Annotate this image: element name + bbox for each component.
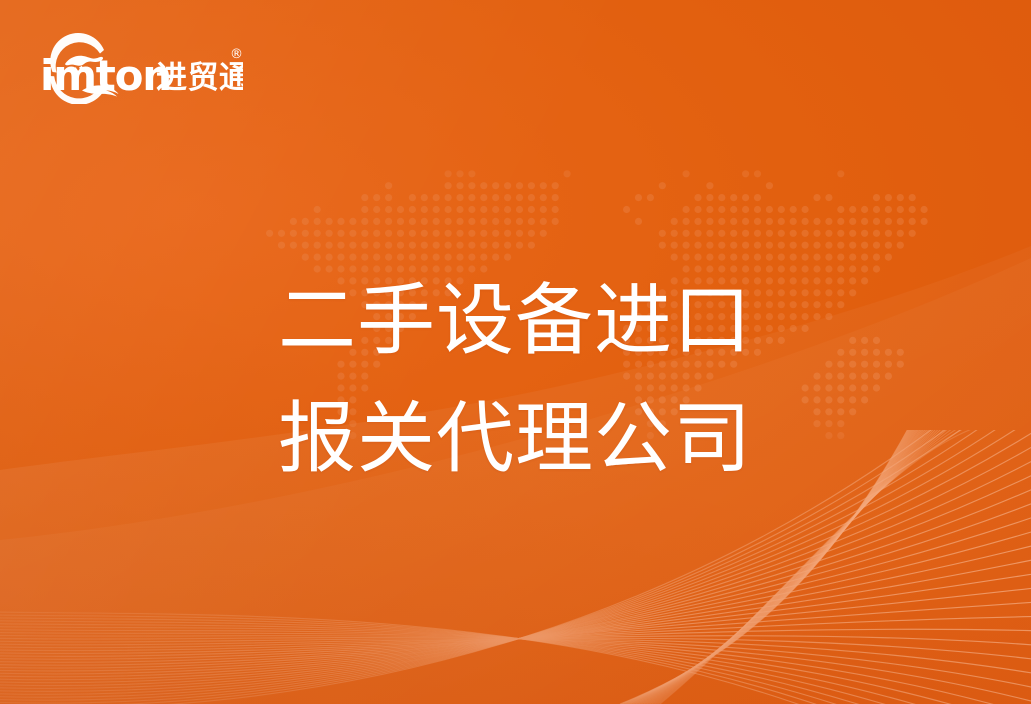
headline-line-2: 报关代理公司	[278, 380, 798, 498]
headline-line-1: 二手设备进口	[278, 262, 798, 380]
headline: 二手设备进口 报关代理公司	[278, 262, 798, 498]
svg-text:®: ®	[230, 47, 243, 62]
trademark-icon: ®	[230, 47, 243, 62]
svg-text:进贸通: 进贸通	[156, 60, 243, 96]
logo-wordmark-chinese: 进贸通	[156, 60, 243, 96]
promo-banner: imton 进贸通 ® 二手设备进口 报关代理公司	[0, 0, 1031, 704]
logo-wordmark-latin: imton	[40, 51, 171, 100]
brand-logo[interactable]: imton 进贸通 ®	[38, 28, 243, 104]
svg-text:imton: imton	[40, 51, 171, 100]
